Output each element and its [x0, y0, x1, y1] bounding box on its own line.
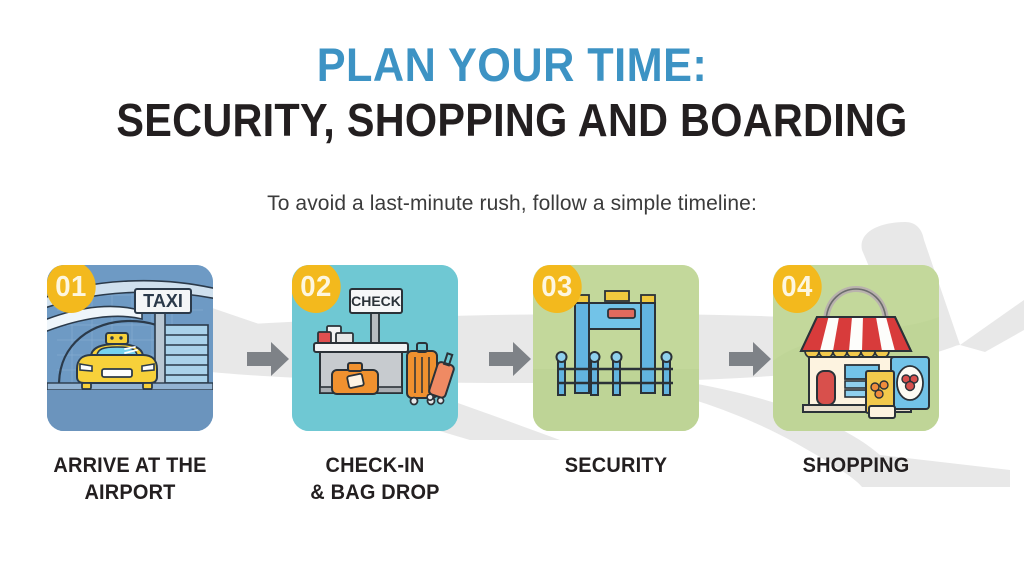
- step-caption-1: ARRIVE AT THE AIRPORT: [42, 453, 219, 507]
- arrow-2-to-3-icon: [487, 339, 533, 379]
- arrow-3-to-4-icon: [727, 339, 773, 379]
- step-card-1[interactable]: TAXI: [47, 265, 213, 431]
- step-caption-4: SHOPPING: [768, 453, 945, 480]
- step-caption-1-line2: AIRPORT: [42, 480, 219, 507]
- arrow-1-to-2-icon: [245, 339, 291, 379]
- headline-block: PLAN YOUR TIME: SECURITY, SHOPPING AND B…: [0, 40, 1024, 146]
- step-card-2[interactable]: CHECK: [292, 265, 458, 431]
- step-caption-1-line1: ARRIVE AT THE: [42, 453, 219, 480]
- infographic-canvas: PLAN YOUR TIME: SECURITY, SHOPPING AND B…: [0, 0, 1024, 576]
- step-caption-2: CHECK-IN & BAG DROP: [287, 453, 464, 507]
- step-caption-3-line1: SECURITY: [528, 453, 705, 480]
- step-caption-3: SECURITY: [528, 453, 705, 480]
- step-caption-2-line2: & BAG DROP: [287, 480, 464, 507]
- step-item-2[interactable]: CHECK: [282, 243, 468, 507]
- step-item-3[interactable]: 03 SECURITY: [523, 243, 709, 480]
- step-caption-4-line1: SHOPPING: [768, 453, 945, 480]
- page-subtitle: To avoid a last-minute rush, follow a si…: [0, 192, 1024, 216]
- step-card-4[interactable]: 04: [773, 265, 939, 431]
- step-item-4[interactable]: 04 SHOPPING: [763, 243, 949, 480]
- svg-text:CHECK: CHECK: [351, 293, 401, 309]
- page-title-primary: PLAN YOUR TIME:: [41, 40, 983, 91]
- step-caption-2-line1: CHECK-IN: [287, 453, 464, 480]
- svg-text:TAXI: TAXI: [143, 291, 183, 311]
- steps-row: TAXI: [0, 243, 1024, 513]
- page-title-secondary: SECURITY, SHOPPING AND BOARDING: [51, 95, 973, 147]
- step-item-1[interactable]: TAXI: [37, 243, 223, 507]
- step-card-3[interactable]: 03: [533, 265, 699, 431]
